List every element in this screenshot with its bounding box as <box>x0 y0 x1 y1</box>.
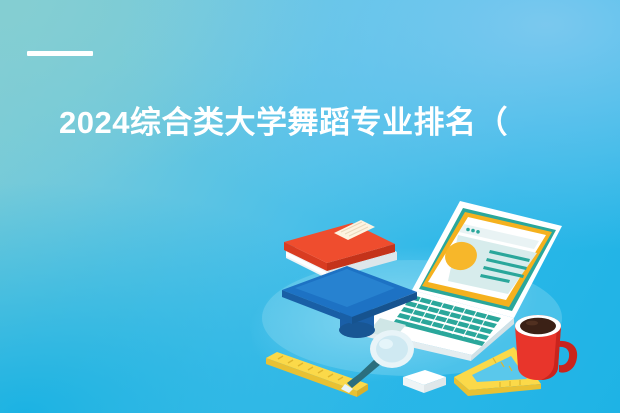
accent-rule <box>27 51 93 56</box>
cap-base-bottom <box>339 322 375 338</box>
mug-handle <box>558 341 577 373</box>
page-title: 2024综合类大学舞蹈专业排名（ <box>59 104 508 143</box>
browser-dot-1 <box>466 228 470 232</box>
browser-dot-3 <box>476 230 480 234</box>
magnifier-lens-shine <box>379 339 393 349</box>
article-cover-banner: 2024综合类大学舞蹈专业排名（ <box>0 0 620 413</box>
coffee-mug-icon <box>515 315 577 380</box>
isometric-study-desk-illustration <box>262 168 620 413</box>
mug-coffee-shine <box>526 321 538 326</box>
browser-dot-2 <box>471 229 475 233</box>
mug-coffee <box>520 318 556 334</box>
magnifier-lens <box>376 336 408 363</box>
